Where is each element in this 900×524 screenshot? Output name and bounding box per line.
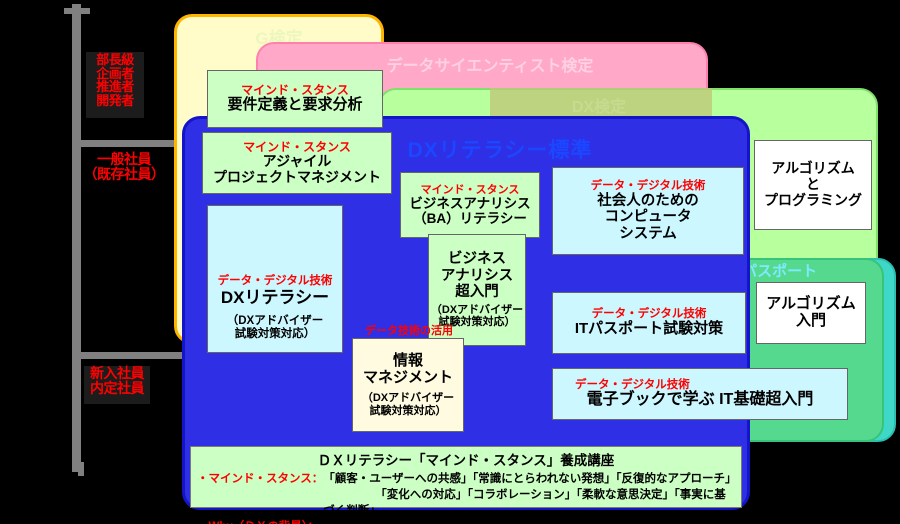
bottom-panel-heading: ＤＸリテラシー「マインド・スタンス」養成講座 [197, 449, 735, 469]
card-title: アルゴリズム 入門 [766, 296, 856, 330]
card-tag: データ・デジタル技術 [575, 379, 690, 392]
label-g-kentei: G検定 [214, 24, 344, 44]
card-requirements[interactable]: マインド・スタンス 要件定義と要求分析 [207, 70, 383, 128]
card-title: アルゴリズム と プログラミング [764, 161, 862, 208]
bottom-panel-row-line: 「社会の変化」「顧客価値の変化」「競争環境の変化」 [319, 518, 595, 524]
axis-label-management: 部長級 企画者 推進者 開発者 [86, 52, 144, 118]
bottom-panel-row: ・Why（ＤＸの背景）： 「社会の変化」「顧客価値の変化」「競争環境の変化」 [197, 518, 735, 524]
card-ebook-it-basics[interactable]: データ・デジタル技術 電子ブックで学ぶ IT基礎超入門 [552, 368, 848, 420]
card-title: ビジネス アナリシス 超入門 [441, 251, 513, 300]
card-title: 情報 マネジメント [363, 353, 453, 387]
card-agile-pm[interactable]: マインド・スタンス アジャイル プロジェクトマネジメント [202, 132, 392, 194]
bottom-panel-row-key: ・Why（ＤＸの背景）： [197, 518, 319, 524]
axis-label-new-employee: 新入社員 内定社員 [84, 366, 150, 404]
card-info-management[interactable]: データ技術の活用 情報 マネジメント （DXアドバイザー 試験対策対応） [352, 338, 464, 432]
bottom-panel-row-line: 「顧客・ユーザーへの共感」「常識にとらわれない発想」「反復的なアプローチ」 [323, 470, 735, 486]
card-tag: データ・デジタル技術 [218, 275, 333, 288]
label-dx-kentei: DX検定 [540, 93, 658, 115]
card-sub: （DXアドバイザー 試験対策対応） [227, 315, 323, 341]
label-dx-literacy-standard: DXリテラシー標準 [404, 134, 596, 160]
card-title: ITパスポート試験対策 [575, 321, 723, 338]
diagram-canvas: 部長級 企画者 推進者 開発者 一般社員 （既存社員） 新入社員 内定社員 G検… [0, 0, 900, 524]
card-algorithm-intro[interactable]: アルゴリズム 入門 [756, 282, 866, 344]
card-ba-literacy[interactable]: マインド・スタンス ビジネスアナリシス （BA）リテラシー [400, 172, 540, 238]
axis-foot [78, 462, 84, 476]
card-tag: データ・デジタル技術 [591, 180, 706, 193]
bottom-panel[interactable]: ＤＸリテラシー「マインド・スタンス」養成講座 ・マインド・スタンス： 「顧客・ユ… [190, 446, 742, 508]
bottom-panel-row-key: ・マインド・スタンス： [197, 470, 323, 486]
card-algorithm-programming[interactable]: アルゴリズム と プログラミング [754, 140, 872, 230]
axis-divider-lower [72, 352, 187, 359]
card-tag: データ技術の活用 [353, 325, 465, 337]
bottom-panel-row: ・マインド・スタンス： 「顧客・ユーザーへの共感」「常識にとらわれない発想」「反… [197, 470, 735, 518]
card-dx-literacy[interactable]: データ・デジタル技術 DXリテラシー （DXアドバイザー 試験対策対応） [207, 205, 343, 353]
card-it-passport-prep[interactable]: データ・デジタル技術 ITパスポート試験対策 [552, 292, 746, 354]
card-title: 要件定義と要求分析 [227, 97, 362, 114]
axis-label-general-employee: 一般社員 （既存社員） [70, 152, 178, 194]
card-title: ビジネスアナリシス （BA）リテラシー [409, 196, 530, 226]
card-sub: （DXアドバイザー 試験対策対応） [362, 392, 454, 417]
card-tag: マインド・スタンス [243, 141, 351, 154]
card-computer-system[interactable]: データ・デジタル技術 社会人のための コンピュータ システム [552, 167, 744, 255]
vertical-axis [72, 4, 81, 472]
card-tag: マインド・スタンス [421, 184, 520, 196]
bottom-panel-row-line: 「変化への対応」「コラボレーション」「柔軟な意思決定」「事実に基づく判断」 [323, 486, 735, 518]
axis-tick-top [64, 8, 90, 14]
card-title: アジャイル プロジェクトマネジメント [213, 154, 381, 185]
card-title: 社会人のための コンピュータ システム [597, 193, 699, 242]
card-title: DXリテラシー [221, 288, 329, 307]
card-title: 電子ブックで学ぶ IT基礎超入門 [587, 391, 814, 409]
